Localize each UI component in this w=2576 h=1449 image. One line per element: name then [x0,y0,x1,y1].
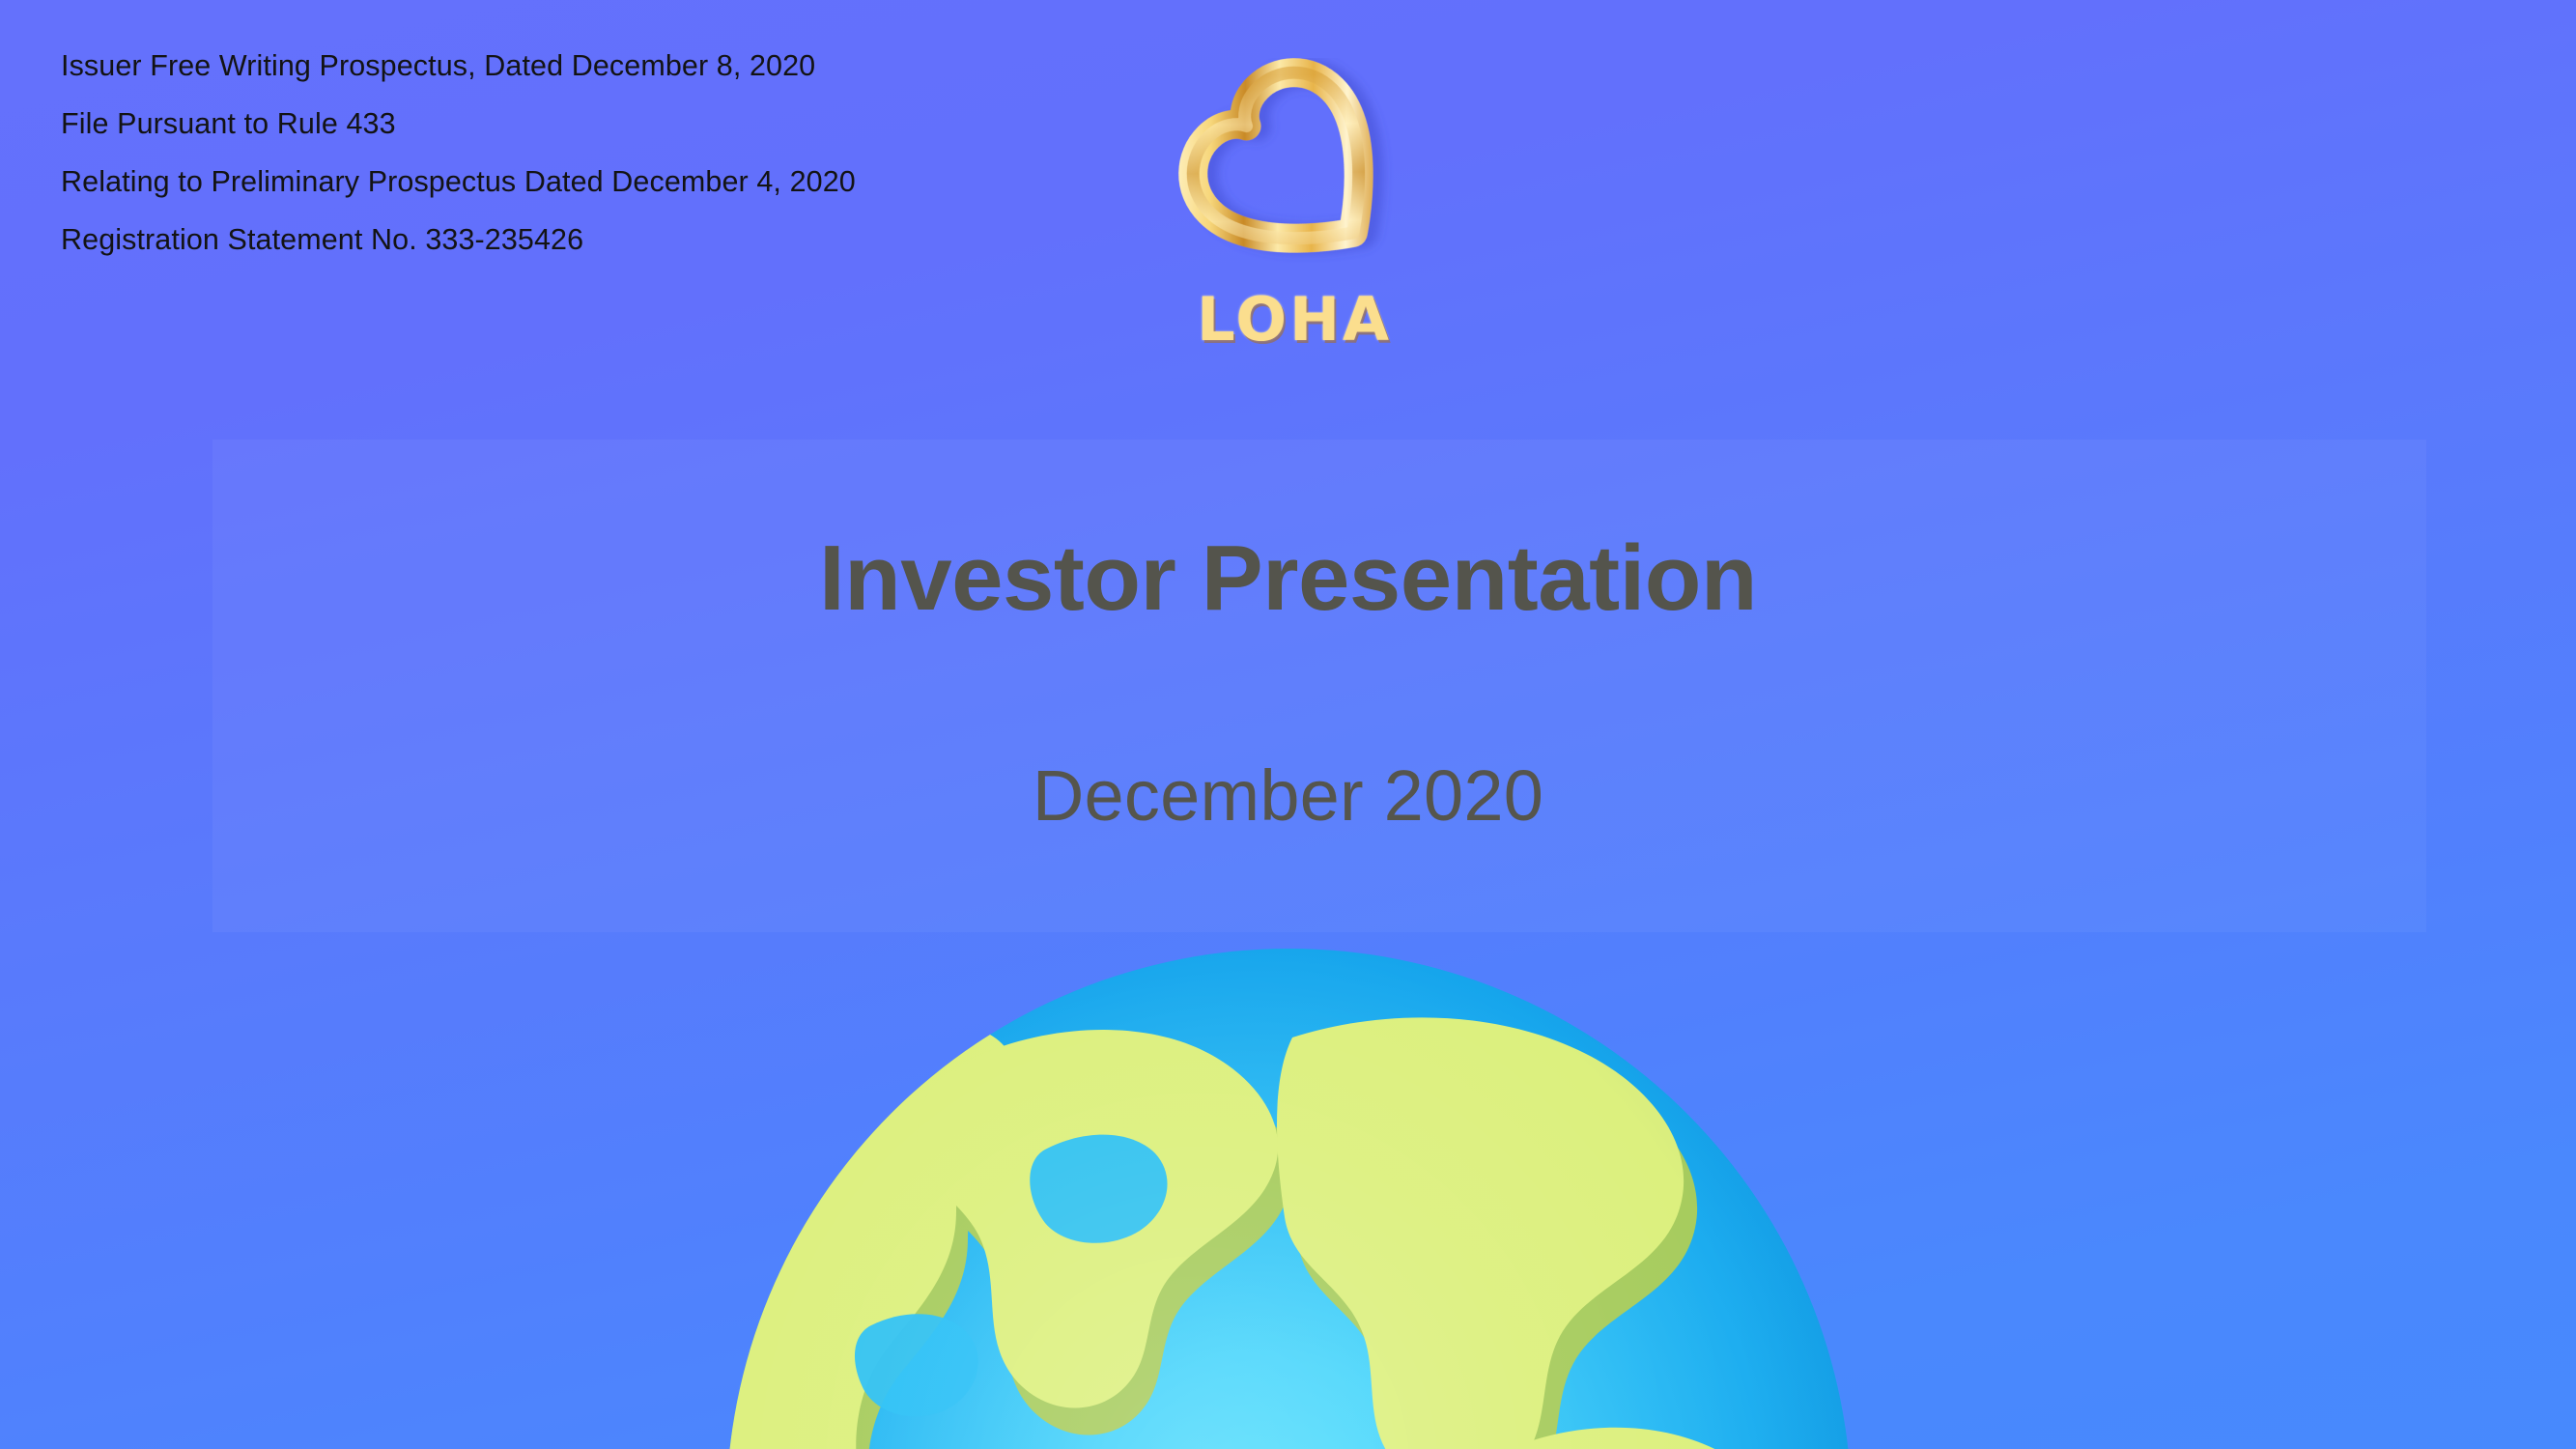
legal-line-3: Relating to Preliminary Prospectus Dated… [61,153,1143,211]
company-logo: LOHA [1154,58,1434,406]
title-backdrop-panel [212,440,2426,932]
globe-illustration [726,949,1852,1449]
prospectus-legend: Issuer Free Writing Prospectus, Dated De… [61,37,1143,269]
logo-wordmark: LOHA [1154,284,1434,355]
page-title: Investor Presentation [0,528,2576,629]
heart-outline-logo-icon [1169,58,1420,290]
legal-line-1: Issuer Free Writing Prospectus, Dated De… [61,37,1143,95]
presentation-slide: Issuer Free Writing Prospectus, Dated De… [0,0,2576,1449]
globe-continents [726,949,1852,1449]
legal-line-2: File Pursuant to Rule 433 [61,95,1143,153]
page-subtitle: December 2020 [0,756,2576,835]
legal-line-4: Registration Statement No. 333-235426 [61,211,1143,269]
